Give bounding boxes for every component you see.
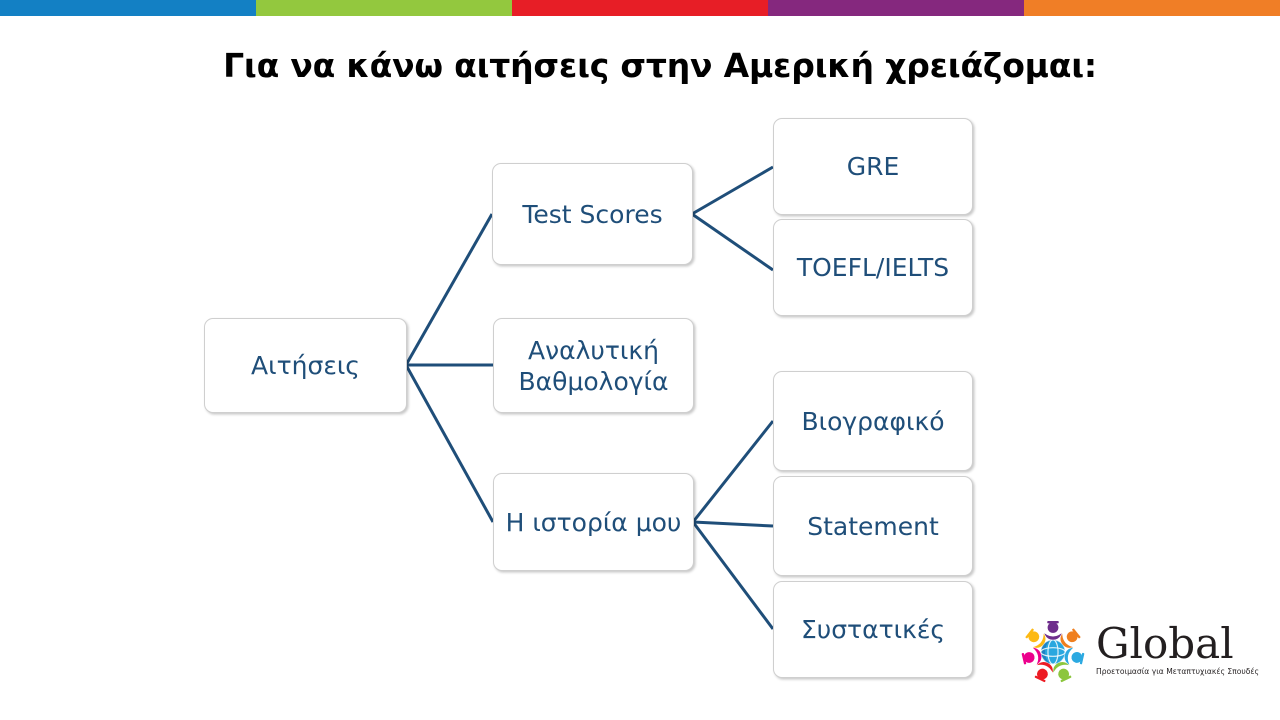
connector-test-scores-gre (692, 167, 773, 214)
hierarchy-diagram: Αιτήσεις Test Scores Αναλυτική Βαθμολογί… (0, 0, 1280, 720)
node-gre-label: GRE (780, 151, 966, 182)
node-test-scores[interactable]: Test Scores (492, 163, 693, 265)
global-circle-logo-icon (1016, 616, 1090, 688)
connector-test-scores-toefl (692, 214, 773, 270)
logo-wordmark: Global (1096, 622, 1248, 666)
node-my-story[interactable]: Η ιστορία μου (493, 473, 694, 571)
node-transcript-label: Αναλυτική Βαθμολογία (500, 335, 687, 397)
connector-root-test-scores (406, 214, 492, 365)
node-test-scores-label: Test Scores (499, 199, 686, 230)
node-transcript[interactable]: Αναλυτική Βαθμολογία (493, 318, 694, 413)
connector-my-story-statement (693, 522, 773, 526)
node-cv-label: Βιογραφικό (780, 406, 966, 437)
node-my-story-label: Η ιστορία μου (500, 507, 687, 538)
connector-root-my-story (406, 365, 493, 522)
connector-my-story-cv (693, 421, 773, 522)
node-reference-letters[interactable]: Συστατικές (773, 581, 973, 678)
logo-tagline: Προετοιμασία για Μεταπτυχιακές Σπουδές (1096, 667, 1248, 677)
node-statement-label: Statement (780, 511, 966, 542)
node-gre[interactable]: GRE (773, 118, 973, 215)
slide-canvas: Για να κάνω αιτήσεις στην Αμερική χρειάζ… (0, 0, 1280, 720)
logo: Global Προετοιμασία για Μεταπτυχιακές Σπ… (1016, 614, 1248, 690)
node-toefl-ielts[interactable]: TOEFL/IELTS (773, 219, 973, 316)
node-root[interactable]: Αιτήσεις (204, 318, 407, 413)
node-toefl-ielts-label: TOEFL/IELTS (780, 252, 966, 283)
logo-text-block: Global Προετοιμασία για Μεταπτυχιακές Σπ… (1096, 622, 1248, 677)
node-cv[interactable]: Βιογραφικό (773, 371, 973, 471)
node-reference-letters-label: Συστατικές (780, 614, 966, 645)
node-statement[interactable]: Statement (773, 476, 973, 576)
connector-my-story-letters (693, 522, 773, 629)
node-root-label: Αιτήσεις (211, 350, 400, 381)
